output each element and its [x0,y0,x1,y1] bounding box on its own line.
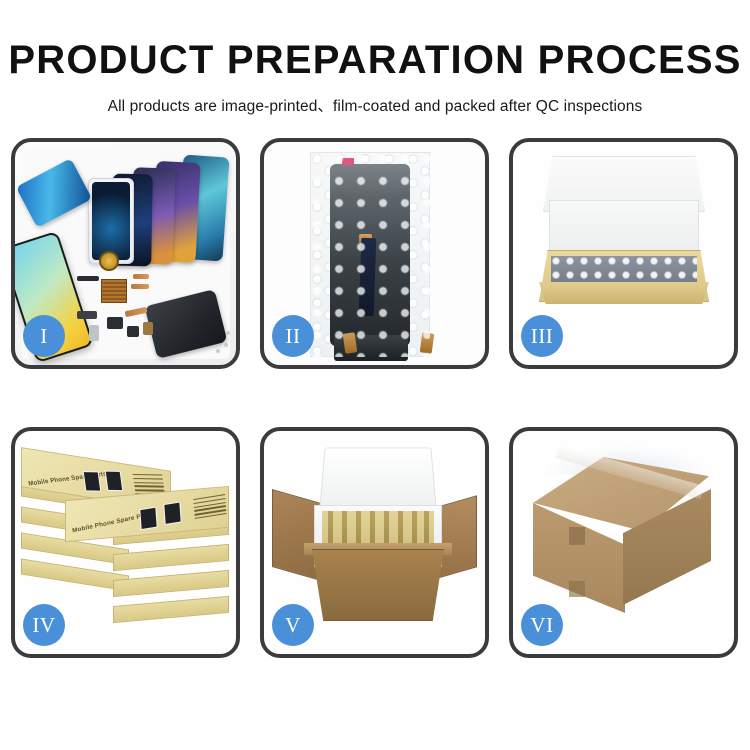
copper-coil-part [99,251,119,271]
box-thumb-front-2 [163,502,181,525]
spare-part-battery [89,325,99,341]
stacked-box-r2 [113,544,229,571]
carton-body [306,549,450,621]
foam-lid-open [319,448,437,512]
gold-tab-right [420,332,435,353]
stacked-box-r4 [113,596,229,623]
step-panel-2: II [260,138,489,369]
step-badge-4: IV [23,604,65,646]
step-panel-6: VI [509,427,738,658]
box-spec-lines-front [193,494,227,522]
spare-part-flex-2 [131,284,149,289]
spare-part-flex-1 [133,274,149,279]
step-badge-5: V [272,604,314,646]
step-badge-6: VI [521,604,563,646]
process-steps-grid: I II [11,138,739,678]
step-panel-5: V [260,427,489,658]
page-title: PRODUCT PREPARATION PROCESS [0,0,750,80]
step-badge-1: I [23,315,65,357]
spare-part-camera [107,317,123,329]
spare-part-bracket [77,311,97,319]
flex-cable [359,238,377,316]
step-panel-4: Mobile Phone Spare Parts Mobile Phone Sp… [11,427,240,658]
header: PRODUCT PREPARATION PROCESS All products… [0,0,750,116]
box-front-panel [539,282,709,304]
product-preparation-infographic: PRODUCT PREPARATION PROCESS All products… [0,0,750,750]
step-panel-3: III [509,138,738,369]
spare-part-screw-3 [226,331,230,335]
box-thumb-back-1 [83,471,102,492]
pull-tab-sticker [342,158,354,165]
carton-seam-lower [569,581,585,597]
step-badge-2: II [272,315,314,357]
spare-part-screw-2 [216,349,220,353]
spare-part-speaker [77,276,99,281]
carton-seam-upper [569,527,585,545]
step-panel-1: I [11,138,240,369]
spare-part-vibrator [127,326,139,337]
stacked-box-r3 [113,570,229,597]
spare-part-connector [143,322,153,335]
spare-part-screw-1 [224,343,228,347]
step-badge-3: III [521,315,563,357]
page-subtitle: All products are image-printed、film-coat… [0,80,750,116]
chip-grid-part [101,279,127,303]
gold-tab-left [343,332,358,353]
box-thumb-back-2 [105,471,124,492]
box-thumb-front-1 [139,507,157,530]
